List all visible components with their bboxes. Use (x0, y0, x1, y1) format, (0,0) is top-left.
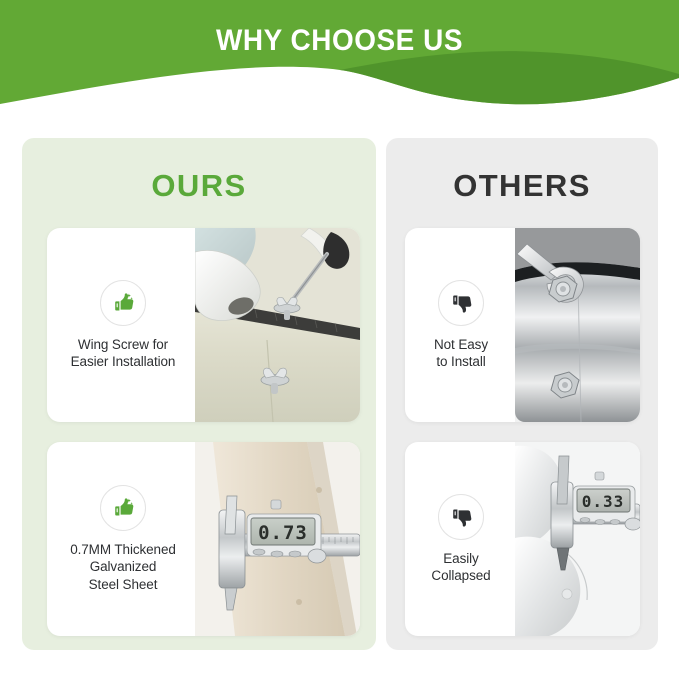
caliper-reading-others: 0.33 (582, 492, 625, 511)
caliper-reading-ours: 0.73 (258, 522, 308, 544)
ours-card-2-content: 0.7MM Thickened Galvanized Steel Sheet (47, 442, 199, 636)
ours-card-thickness[interactable]: 0.7MM Thickened Galvanized Steel Sheet (47, 442, 360, 636)
digital-caliper-measuring-steel-sheet-photo: 0.73 (195, 442, 360, 636)
ours-card-1-label: Wing Screw for Easier Installation (71, 336, 176, 371)
ours-card-1-content: Wing Screw for Easier Installation (47, 228, 199, 422)
others-card-1-label: Not Easy to Install (434, 336, 488, 371)
header-banner: WHY CHOOSE US (0, 0, 679, 112)
digital-caliper-measuring-thin-collapsed-sheet-photo: 0.33 (515, 442, 640, 636)
others-card-easily-collapsed[interactable]: Easily Collapsed (405, 442, 640, 636)
ours-card-2-label: 0.7MM Thickened Galvanized Steel Sheet (70, 541, 176, 593)
ours-card-wing-screw[interactable]: Wing Screw for Easier Installation (47, 228, 360, 422)
others-card-hard-install[interactable]: Not Easy to Install (405, 228, 640, 422)
thumbs-down-icon (438, 280, 484, 326)
panel-others-heading: OTHERS (386, 168, 658, 204)
thumbs-down-icon (438, 494, 484, 540)
panel-ours: OURS Wing Screw for Easier Installation (22, 138, 376, 650)
thumbs-up-icon (100, 280, 146, 326)
panel-others: OTHERS Not Easy to Install (386, 138, 658, 650)
thumbs-up-icon (100, 485, 146, 531)
panel-ours-heading: OURS (22, 168, 376, 204)
wrench-tightening-bolt-photo (515, 228, 640, 422)
others-card-1-content: Not Easy to Install (405, 228, 517, 422)
comparison-section: OURS Wing Screw for Easier Installation (0, 138, 679, 650)
others-card-2-label: Easily Collapsed (431, 550, 490, 585)
gloved-hands-installing-wing-screw-photo (195, 228, 360, 422)
page-title: WHY CHOOSE US (24, 24, 655, 58)
others-card-2-content: Easily Collapsed (405, 442, 517, 636)
